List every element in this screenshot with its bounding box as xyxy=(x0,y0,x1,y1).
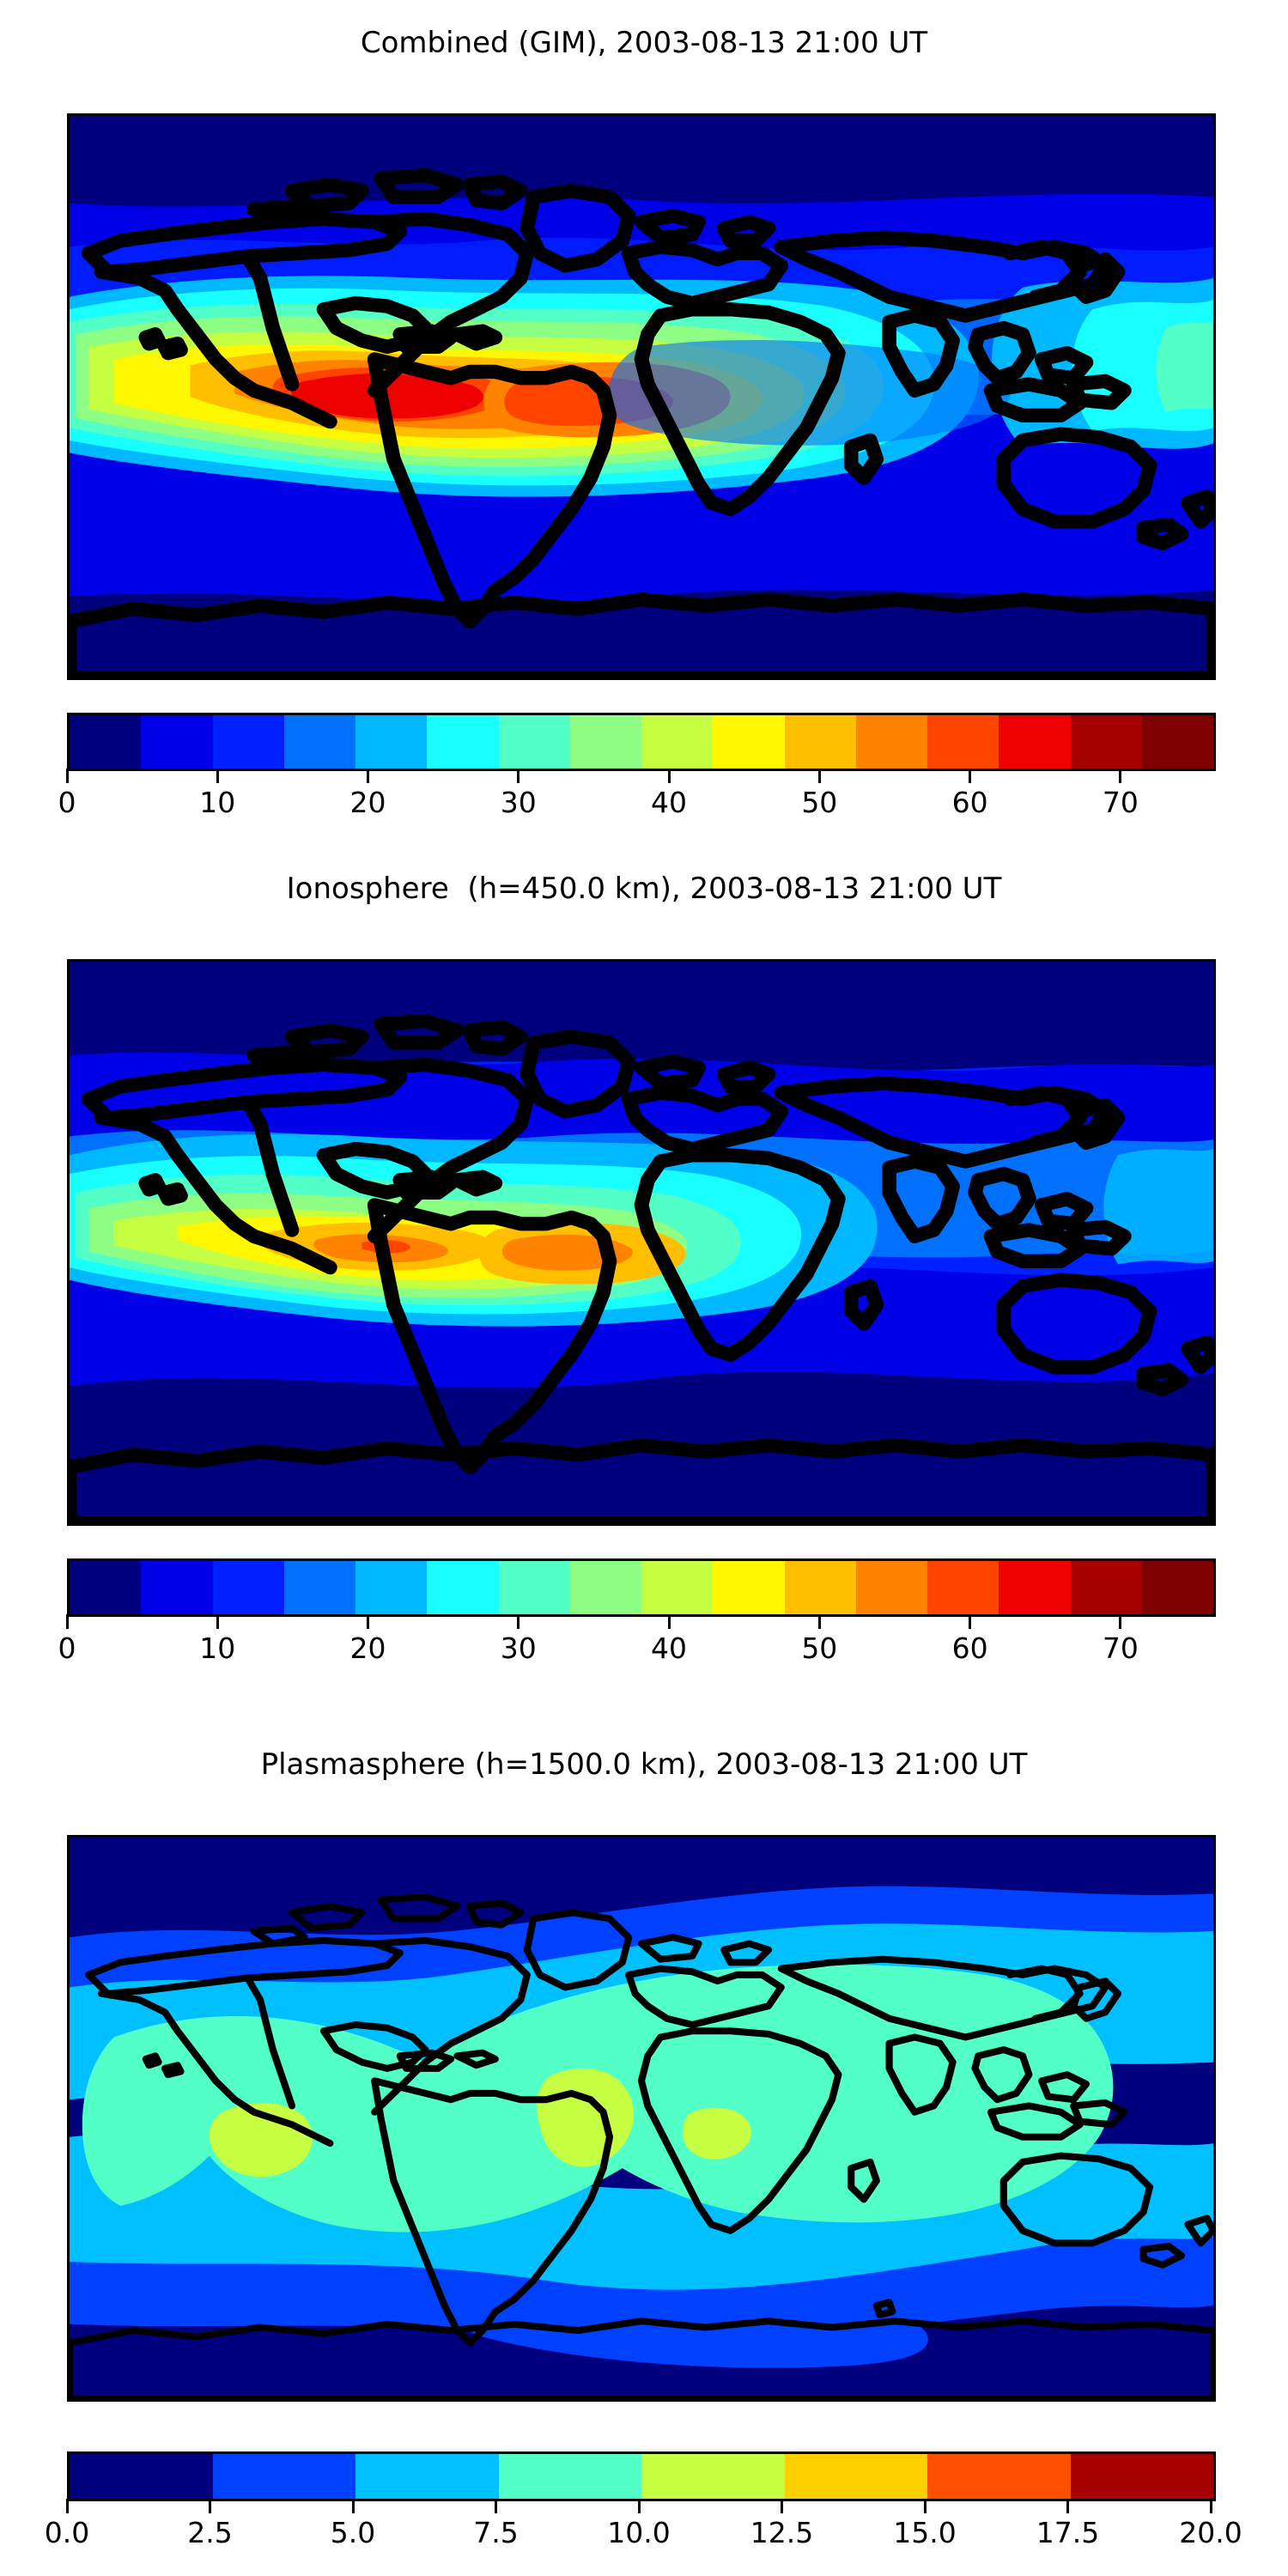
colorbar-segment xyxy=(785,2454,928,2499)
colorbar-tick-label: 70 xyxy=(1103,786,1139,819)
colorbar-tick xyxy=(517,1614,519,1629)
colorbar-tick-label: 50 xyxy=(801,786,837,819)
colorbar-segment xyxy=(355,1561,427,1614)
colorbar-tick xyxy=(1119,769,1121,783)
colorbar-tick-label: 5.0 xyxy=(331,2516,375,2549)
contour-field-plasmasphere xyxy=(70,1838,1213,2399)
colorbar-ionosphere xyxy=(67,1558,1216,1617)
colorbar-segment xyxy=(355,715,427,769)
colorbar-segment xyxy=(499,2454,642,2499)
colorbar-tick-label: 10 xyxy=(199,786,235,819)
colorbar-ticks-plasmasphere: 0.02.55.07.510.012.515.017.520.0 xyxy=(67,2499,1211,2550)
colorbar-tick xyxy=(668,1614,671,1629)
colorbar-segment xyxy=(641,1561,713,1614)
colorbar-segment xyxy=(1071,715,1142,769)
colorbar-tick-label: 20.0 xyxy=(1179,2516,1242,2549)
colorbar-segment xyxy=(70,1561,141,1614)
colorbar-tick-label: 20 xyxy=(350,786,386,819)
colorbar-tick-label: 7.5 xyxy=(473,2516,518,2549)
colorbar-tick xyxy=(818,769,821,783)
colorbar-ticks-ionosphere: 010203040506070 xyxy=(67,1614,1211,1666)
colorbar-tick-label: 12.5 xyxy=(750,2516,813,2549)
map-svg-plasmasphere xyxy=(70,1838,1213,2399)
map-ionosphere xyxy=(67,959,1216,1526)
colorbar-tick xyxy=(969,769,971,783)
colorbar-segment xyxy=(141,715,212,769)
colorbar-tick xyxy=(216,1614,219,1629)
colorbar-segment xyxy=(856,1561,927,1614)
colorbar-segment xyxy=(499,715,570,769)
colorbar-tick-label: 70 xyxy=(1103,1631,1139,1665)
colorbar-tick xyxy=(66,2499,69,2513)
colorbar-tick-label: 0 xyxy=(58,786,76,819)
colorbar-segment xyxy=(1071,2454,1214,2499)
colorbar-tick xyxy=(495,2499,497,2513)
colorbar-segment xyxy=(713,715,784,769)
colorbar-tick-label: 60 xyxy=(952,1631,988,1665)
map-plasmasphere xyxy=(67,1835,1216,2402)
colorbar-segment xyxy=(927,715,999,769)
colorbar-tick-label: 0.0 xyxy=(45,2516,89,2549)
colorbar-segment xyxy=(1071,1561,1142,1614)
colorbar-tick-label: 0 xyxy=(58,1631,76,1665)
colorbar-ticks-combined-gim: 010203040506070 xyxy=(67,769,1211,820)
colorbar-tick xyxy=(517,769,519,783)
colorbar-tick xyxy=(1066,2499,1069,2513)
colorbar-segment xyxy=(570,715,641,769)
colorbar-tick xyxy=(969,1614,971,1629)
colorbar-tick xyxy=(66,769,69,783)
colorbar-tick-label: 30 xyxy=(501,786,537,819)
colorbar-tick-label: 10.0 xyxy=(607,2516,670,2549)
colorbar-segment xyxy=(355,2454,499,2499)
colorbar-tick-label: 50 xyxy=(801,1631,837,1665)
colorbar-segment xyxy=(641,2454,785,2499)
figure-root: Combined (GIM), 2003-08-13 21:00 UT xyxy=(0,0,1288,2576)
colorbar-segment xyxy=(785,1561,856,1614)
colorbar-segment xyxy=(999,1561,1070,1614)
colorbar-tick xyxy=(352,2499,355,2513)
colorbar-segment xyxy=(713,1561,784,1614)
map-combined-gim xyxy=(67,113,1216,680)
colorbar-segment xyxy=(284,715,355,769)
colorbar-segment xyxy=(70,2454,213,2499)
map-svg-combined-gim xyxy=(70,116,1213,677)
colorbar-tick xyxy=(66,1614,69,1629)
colorbar-tick-label: 15.0 xyxy=(893,2516,956,2549)
colorbar-segment xyxy=(70,715,141,769)
colorbar-segment xyxy=(785,715,856,769)
colorbar-segment xyxy=(213,2454,356,2499)
colorbar-segment xyxy=(284,1561,355,1614)
colorbar-segment xyxy=(499,1561,570,1614)
colorbar-segment xyxy=(856,715,927,769)
colorbar-tick-label: 20 xyxy=(350,1631,386,1665)
colorbar-segment xyxy=(927,2454,1071,2499)
colorbar-segment xyxy=(427,1561,498,1614)
colorbar-tick xyxy=(781,2499,783,2513)
colorbar-segment xyxy=(141,1561,212,1614)
colorbar-tick xyxy=(638,2499,641,2513)
colorbar-tick xyxy=(1210,2499,1212,2513)
colorbar-plasmasphere xyxy=(67,2451,1216,2501)
colorbar-tick-label: 30 xyxy=(501,1631,537,1665)
colorbar-segment xyxy=(1142,1561,1213,1614)
panel-title-combined-gim: Combined (GIM), 2003-08-13 21:00 UT xyxy=(0,26,1288,60)
colorbar-tick-label: 60 xyxy=(952,786,988,819)
colorbar-segment xyxy=(1142,715,1213,769)
colorbar-tick-label: 40 xyxy=(651,786,687,819)
panel-title-ionosphere: Ionosphere (h=450.0 km), 2003-08-13 21:0… xyxy=(0,872,1288,906)
colorbar-tick xyxy=(367,769,369,783)
colorbar-segment xyxy=(213,1561,284,1614)
colorbar-tick-label: 10 xyxy=(199,1631,235,1665)
colorbar-tick-label: 40 xyxy=(651,1631,687,1665)
colorbar-segment xyxy=(213,715,284,769)
colorbar-tick-label: 2.5 xyxy=(187,2516,232,2549)
colorbar-tick xyxy=(1119,1614,1121,1629)
colorbar-tick xyxy=(818,1614,821,1629)
colorbar-tick xyxy=(209,2499,211,2513)
colorbar-segment xyxy=(927,1561,999,1614)
colorbar-tick xyxy=(668,769,671,783)
colorbar-combined-gim xyxy=(67,713,1216,771)
colorbar-segment xyxy=(641,715,713,769)
colorbar-segment xyxy=(570,1561,641,1614)
panel-title-plasmasphere: Plasmasphere (h=1500.0 km), 2003-08-13 2… xyxy=(0,1747,1288,1782)
colorbar-tick-label: 17.5 xyxy=(1036,2516,1099,2549)
colorbar-tick xyxy=(367,1614,369,1629)
colorbar-segment xyxy=(999,715,1070,769)
colorbar-segment xyxy=(427,715,498,769)
colorbar-tick xyxy=(924,2499,927,2513)
map-svg-ionosphere xyxy=(70,962,1213,1523)
colorbar-tick xyxy=(216,769,219,783)
